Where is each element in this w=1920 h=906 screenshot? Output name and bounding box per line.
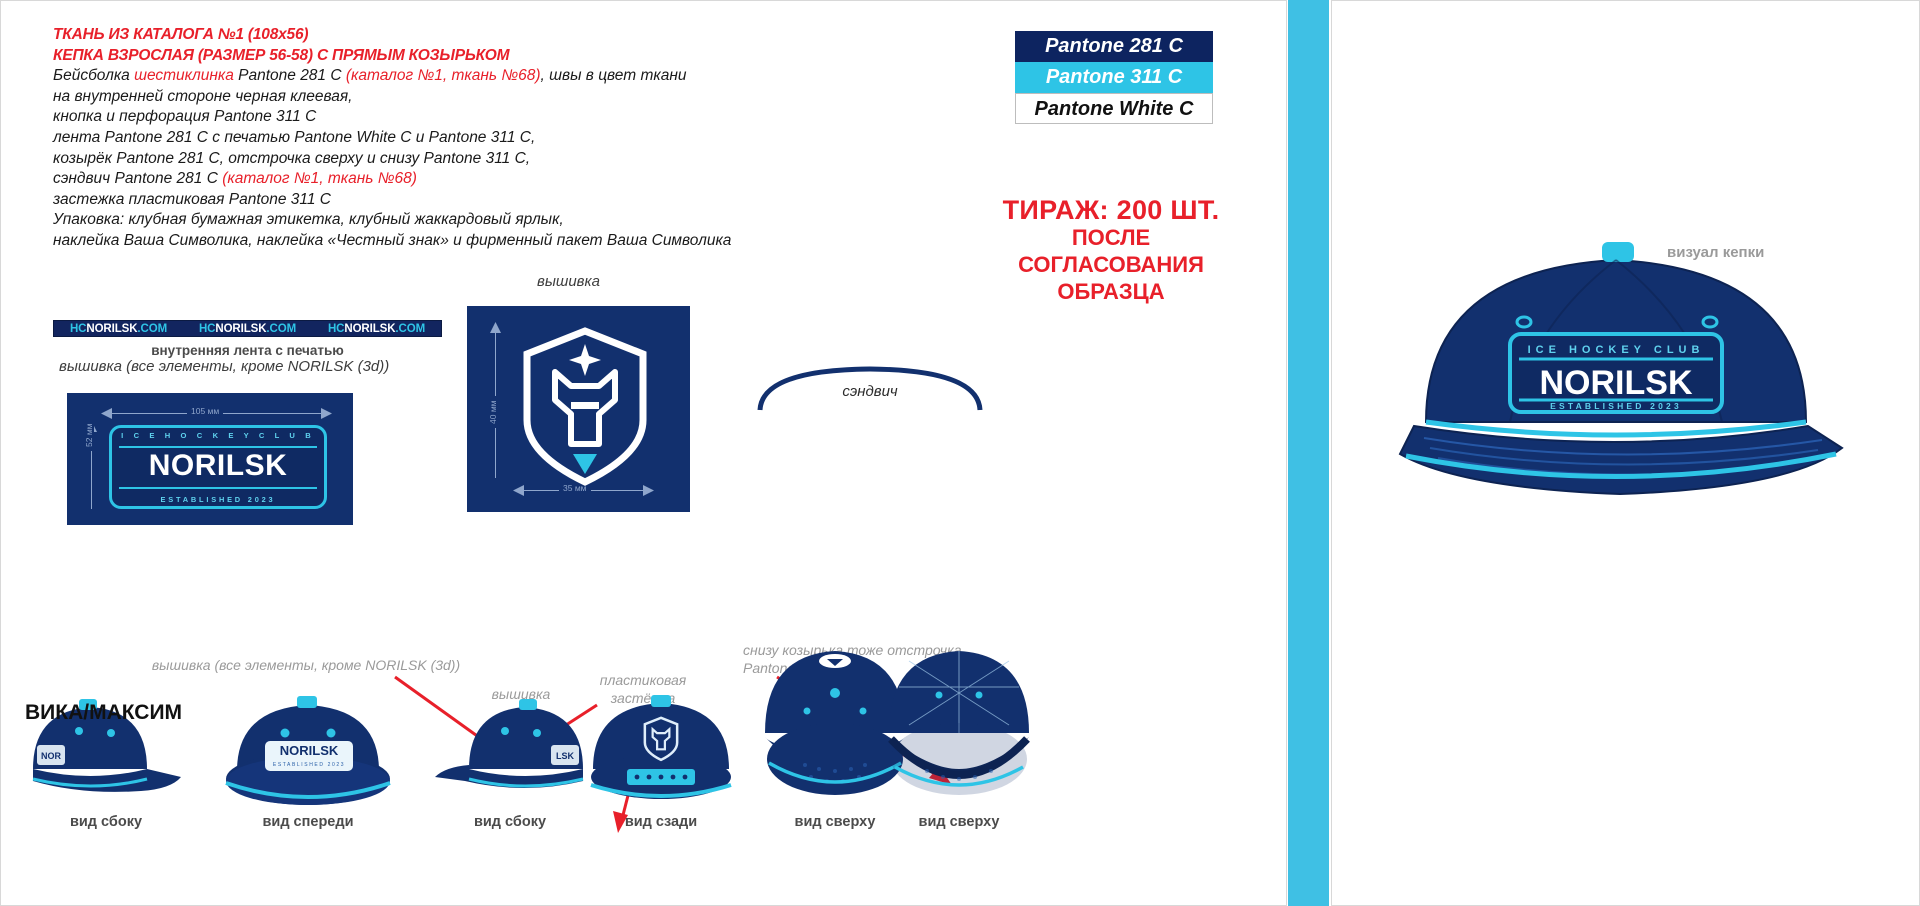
tape-name-3: NORILSK: [344, 323, 395, 335]
spec-line-4: лента Pantone 281 C с печатью Pantone Wh…: [53, 128, 953, 149]
quantity-note-line-3: СОГЛАСОВАНИЯ: [961, 251, 1261, 278]
inner-tape-caption: внутренняя лента с печатью: [53, 343, 442, 358]
bear-width-arrow-left: [513, 485, 525, 496]
spec-line-6-a: сэндвич Pantone 281 C: [53, 170, 222, 187]
embroidery-bear-panel: 40 мм 35 мм: [467, 306, 690, 512]
tape-segment-2: HCNORILSK.COM: [199, 323, 296, 335]
quantity-note-line-2: ПОСЛЕ: [961, 224, 1261, 251]
signature-label: ВИКА/МАКСИМ: [25, 701, 182, 725]
tape-name-1: NORILSK: [86, 323, 137, 335]
inner-tape-strip: HCNORILSK.COM HCNORILSK.COM HCNORILSK.CO…: [53, 320, 442, 337]
bear-crest-icon: [515, 328, 655, 486]
cap-figure-top-2: [869, 641, 1049, 816]
quantity-line: ТИРАЖ: 200 ШТ.: [961, 197, 1261, 224]
norilsk-badge: I C E H O C K E Y C L U B NORILSK ESTABL…: [109, 425, 327, 509]
spec-sheet-page: ТКАНЬ ИЗ КАТАЛОГА №1 (108x56) КЕПКА ВЗРО…: [0, 0, 1920, 906]
spec-line-6-b: (каталог №1, ткань №68): [222, 170, 417, 187]
tape-com-3: .COM: [395, 323, 425, 335]
cap-figure-caption-4: вид сзади: [571, 814, 751, 830]
cap-figure-caption-1: вид сбоку: [21, 814, 191, 830]
patch-width-label: 105 мм: [187, 406, 223, 416]
bear-height-label: 40 мм: [488, 396, 498, 428]
annotation-embroidery-front: вышивка (все элементы, кроме NORILSK (3d…: [146, 656, 466, 674]
cap-figure-caption-2: вид спереди: [213, 814, 403, 830]
spec-line-2: на внутренней стороне черная клеевая,: [53, 87, 953, 108]
spec-line-1-a: Бейсболка: [53, 67, 134, 84]
inner-tape-block: HCNORILSK.COM HCNORILSK.COM HCNORILSK.CO…: [53, 320, 442, 358]
cap-figure-side-right: LSK: [425, 691, 595, 811]
pantone-swatch-list: Pantone 281 C Pantone 311 C Pantone Whit…: [1015, 31, 1213, 124]
pantone-swatch-white: Pantone White C: [1015, 93, 1213, 124]
svg-text:NORILSK: NORILSK: [280, 743, 339, 758]
cap-visual-large: ICE HOCKEY CLUB NORILSK ESTABLISHED 2023: [1370, 226, 1880, 526]
patch-width-arrow-right: [320, 408, 332, 419]
tape-name-2: NORILSK: [215, 323, 266, 335]
cap-figure-caption-6: вид сверху: [869, 814, 1049, 830]
cap-figure-front: NORILSK ESTABLISHED 2023: [213, 691, 403, 816]
badge-bottom-text: ESTABLISHED 2023: [112, 495, 324, 504]
cap-visual-caption: визуал кепки: [1667, 244, 1764, 261]
svg-text:NOR: NOR: [41, 751, 62, 761]
svg-text:ESTABLISHED 2023: ESTABLISHED 2023: [1550, 401, 1682, 411]
badge-rule-top: [119, 446, 317, 448]
bear-width-arrow-right: [642, 485, 654, 496]
spec-line-9: наклейка Ваша Символика, наклейка «Честн…: [53, 231, 953, 252]
svg-text:ESTABLISHED 2023: ESTABLISHED 2023: [273, 762, 345, 768]
tape-segment-3: HCNORILSK.COM: [328, 323, 425, 335]
spec-line-1-d: (каталог №1, ткань №68): [346, 67, 541, 84]
spec-heading-1: ТКАНЬ ИЗ КАТАЛОГА №1 (108x56): [53, 25, 953, 46]
badge-rule-bottom: [119, 487, 317, 489]
tape-com-2: .COM: [266, 323, 296, 335]
patch-width-arrow-left: [101, 408, 113, 419]
spec-line-7: застежка пластиковая Pantone 311 C: [53, 190, 953, 211]
tape-segment-1: HCNORILSK.COM: [70, 323, 167, 335]
spec-line-8: Упаковка: клубная бумажная этикетка, клу…: [53, 210, 953, 231]
specification-text: ТКАНЬ ИЗ КАТАЛОГА №1 (108x56) КЕПКА ВЗРО…: [53, 25, 953, 252]
bear-caption: вышивка: [537, 273, 600, 290]
quantity-note: ТИРАЖ: 200 ШТ. ПОСЛЕ СОГЛАСОВАНИЯ ОБРАЗЦ…: [961, 197, 1261, 305]
tape-hc-3: HC: [328, 323, 344, 335]
spec-heading-2: КЕПКА ВЗРОСЛАЯ (РАЗМЕР 56-58) С ПРЯМЫМ К…: [53, 46, 953, 67]
spec-line-1-b: шестиклинка: [134, 67, 234, 84]
cap-figure-back: [571, 691, 751, 816]
svg-text:NORILSK: NORILSK: [1540, 364, 1693, 402]
quantity-note-line-4: ОБРАЗЦА: [961, 278, 1261, 305]
pantone-swatch-311: Pantone 311 C: [1015, 62, 1213, 93]
svg-text:ICE HOCKEY CLUB: ICE HOCKEY CLUB: [1528, 344, 1705, 356]
spec-line-3: кнопка и перфорация Pantone 311 C: [53, 107, 953, 128]
patch-height-label: 52 мм: [84, 419, 94, 451]
tape-hc-2: HC: [199, 323, 215, 335]
pantone-swatch-281: Pantone 281 C: [1015, 31, 1213, 62]
spec-line-1-c: Pantone 281 C: [234, 67, 346, 84]
annotation-plastic-clasp-l1: пластиковая: [600, 672, 687, 688]
bear-height-arrow-top: [490, 322, 501, 334]
spec-line-1: Бейсболка шестиклинка Pantone 281 C (кат…: [53, 66, 953, 87]
spec-line-5: козырёк Pantone 281 C, отстрочка сверху …: [53, 149, 953, 170]
embroidery-patch-panel: 105 мм 52 мм I C E H O C K E Y C L U B N…: [67, 393, 353, 525]
cap-figure-caption-3: вид сбоку: [425, 814, 595, 830]
badge-main-text: NORILSK: [112, 449, 324, 483]
tape-hc-1: HC: [70, 323, 86, 335]
spec-line-1-e: , швы в цвет ткани: [541, 67, 687, 84]
badge-top-text: I C E H O C K E Y C L U B: [112, 431, 324, 440]
spec-line-6: сэндвич Pantone 281 C (каталог №1, ткань…: [53, 169, 953, 190]
right-page: ICE HOCKEY CLUB NORILSK ESTABLISHED 2023…: [1331, 0, 1920, 906]
patch-caption: вышивка (все элементы, кроме NORILSK (3d…: [59, 358, 389, 375]
page-spine-divider: [1288, 0, 1329, 906]
tape-com-1: .COM: [137, 323, 167, 335]
sandwich-caption: сэндвич: [756, 383, 984, 400]
left-page: ТКАНЬ ИЗ КАТАЛОГА №1 (108x56) КЕПКА ВЗРО…: [0, 0, 1287, 906]
